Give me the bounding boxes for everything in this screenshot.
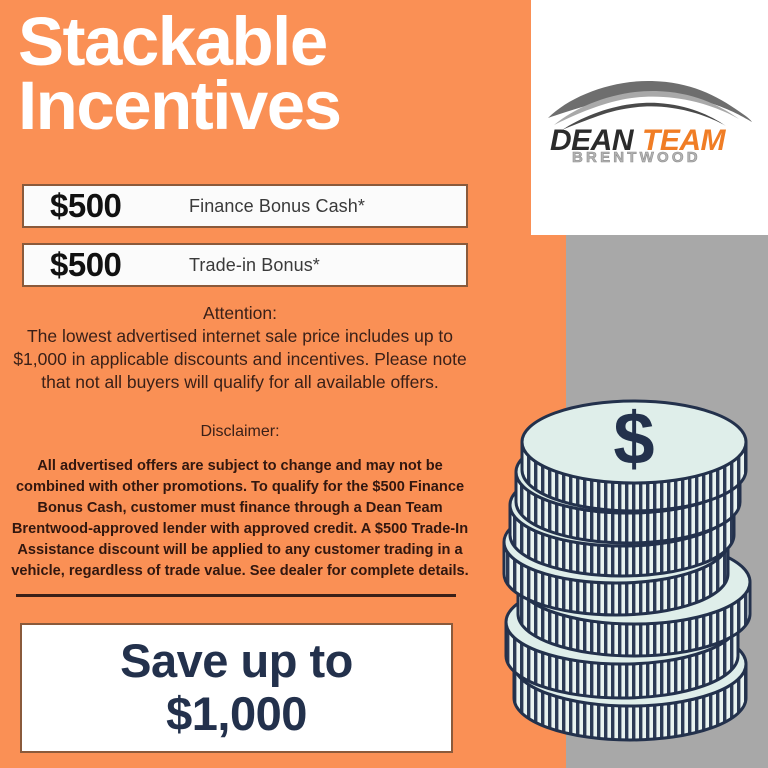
horizontal-divider [16, 594, 456, 597]
offer-label: Trade-in Bonus* [189, 255, 320, 276]
disclaimer-body: All advertised offers are subject to cha… [10, 456, 470, 582]
attention-heading: Attention: [12, 302, 468, 325]
headline-line-1: Stackable [18, 10, 528, 74]
headline-line-2: Incentives [18, 74, 528, 138]
dealer-logo: DEAN TEAM BRENTWOOD [540, 78, 760, 164]
page-title: Stackable Incentives [18, 10, 528, 138]
logo-subtitle: BRENTWOOD [572, 149, 701, 164]
offer-amount: $500 [24, 187, 189, 225]
promotional-flyer: Stackable Incentives DEAN TEAM BRENTWOOD… [0, 0, 768, 768]
offer-label: Finance Bonus Cash* [189, 196, 365, 217]
disclaimer-heading: Disclaimer: [12, 423, 468, 441]
attention-body: The lowest advertised internet sale pric… [12, 325, 468, 394]
save-up-to-box: Save up to $1,000 [20, 623, 453, 753]
car-swoosh-icon [548, 81, 752, 130]
offer-box-trade-in-bonus: $500 Trade-in Bonus* [22, 243, 468, 287]
save-line-1: Save up to [120, 635, 353, 688]
offer-amount: $500 [24, 246, 189, 284]
attention-block: Attention: The lowest advertised interne… [12, 302, 468, 394]
dollar-sign-icon: $ [613, 398, 654, 480]
save-line-2: $1,000 [166, 688, 307, 741]
coin-top: $ [522, 398, 746, 511]
offer-box-finance-bonus: $500 Finance Bonus Cash* [22, 184, 468, 228]
coin-stack-illustration: $ [492, 398, 768, 768]
